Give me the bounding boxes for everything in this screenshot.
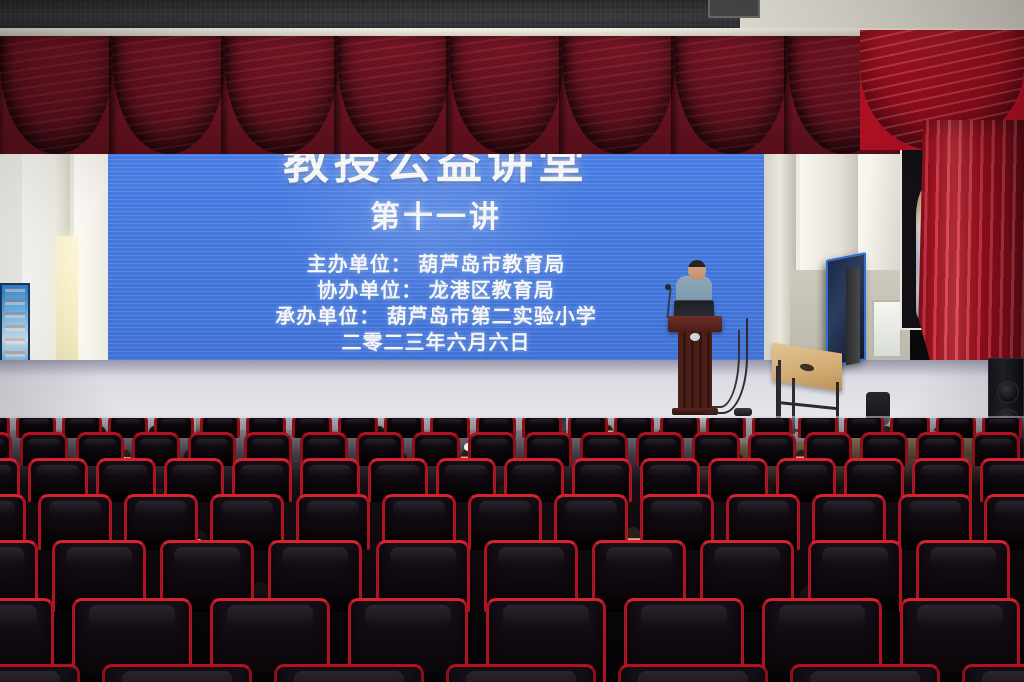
audience-seat bbox=[618, 664, 768, 682]
audience-seat bbox=[446, 664, 596, 682]
ceiling-grid-texture bbox=[0, 0, 760, 30]
valance-swag bbox=[450, 36, 563, 154]
valance-swag bbox=[0, 36, 113, 154]
presenter-head bbox=[688, 260, 706, 280]
monitor-mount bbox=[846, 267, 860, 366]
valance-swag bbox=[225, 36, 338, 154]
valance-swag bbox=[113, 36, 226, 154]
auditorium-photo: 教授公益讲堂 第十一讲 主办单位： 葫芦岛市教育局 协办单位： 龙港区教育局 承… bbox=[0, 0, 1024, 682]
valance-swag bbox=[675, 36, 788, 154]
left-doorway-light bbox=[56, 236, 78, 364]
audience-seating bbox=[0, 418, 1024, 682]
podium-emblem bbox=[690, 333, 700, 341]
audience-seat bbox=[962, 664, 1024, 682]
audience-seat bbox=[790, 664, 940, 682]
stage-valance-curtain bbox=[0, 36, 900, 154]
valance-swag bbox=[563, 36, 676, 154]
audience-seat bbox=[102, 664, 252, 682]
audience-seat bbox=[274, 664, 424, 682]
right-window bbox=[872, 300, 902, 358]
speaker-cone-icon bbox=[997, 381, 1019, 403]
microphone-icon bbox=[665, 284, 671, 290]
stage-floor-shadow bbox=[0, 360, 1024, 376]
ceiling-dark-panel bbox=[0, 0, 760, 30]
valance-swag bbox=[338, 36, 451, 154]
audience-seat bbox=[0, 664, 80, 682]
valance-swags bbox=[0, 36, 900, 154]
ceiling-vent-icon bbox=[708, 0, 760, 18]
floor-cable-box bbox=[734, 408, 752, 416]
